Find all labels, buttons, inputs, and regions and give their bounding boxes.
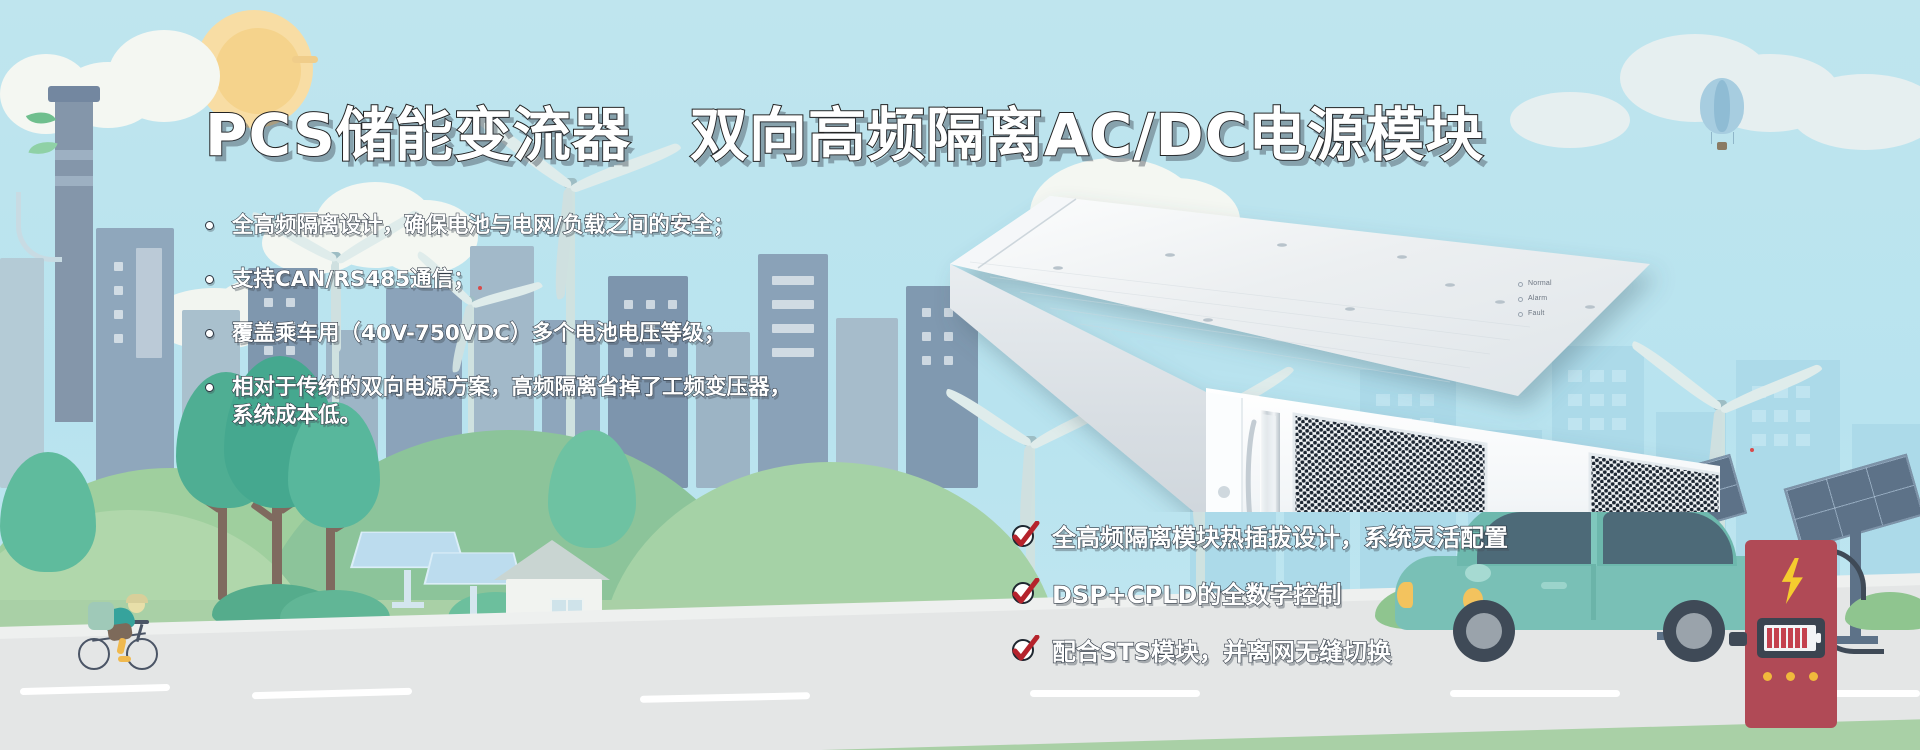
bullet-dot-icon: [205, 329, 214, 338]
list-item: DSP+CPLD的全数字控制: [1010, 575, 1508, 610]
list-item: 全高频隔离设计，确保电池与电网/负载之间的安全；: [205, 212, 925, 240]
list-item: 支持CAN/RS485通信；: [205, 266, 925, 294]
list-item: 覆盖乘车用（40V-750VDC）多个电池电压等级；: [205, 320, 925, 348]
page-title: PCS储能变流器 双向高频隔离AC/DC电源模块: [205, 88, 1484, 172]
led-label-fault: Fault: [1528, 310, 1545, 317]
bullet-text: 全高频隔离设计，确保电池与电网/负载之间的安全；: [232, 212, 734, 240]
check-mark-icon: [1010, 521, 1040, 551]
pcs-power-module-image: Normal Alarm Fault: [930, 182, 1720, 512]
list-item: 全高频隔离模块热插拔设计，系统灵活配置: [1010, 518, 1508, 553]
led-alarm-icon: [1518, 297, 1523, 302]
promo-banner: Normal Alarm Fault PCS储能变流器 双向高频隔离AC/DC电…: [0, 0, 1920, 750]
bullet-text: 支持CAN/RS485通信；: [232, 266, 475, 294]
led-fault-icon: [1518, 312, 1523, 317]
list-item: 相对于传统的双向电源方案，高频隔离省掉了工频变压器， 系统成本低。: [205, 374, 925, 430]
bullet-dot-icon: [205, 221, 214, 230]
check-mark-icon: [1010, 635, 1040, 665]
list-item: 配合STS模块，并离网无缝切换: [1010, 632, 1508, 667]
bullet-text: 相对于传统的双向电源方案，高频隔离省掉了工频变压器， 系统成本低。: [232, 374, 791, 430]
highlight-text: 配合STS模块，并离网无缝切换: [1052, 632, 1391, 667]
led-normal-icon: [1518, 282, 1523, 287]
led-label-alarm: Alarm: [1528, 295, 1547, 302]
highlight-text: 全高频隔离模块热插拔设计，系统灵活配置: [1052, 518, 1508, 553]
bullet-dot-icon: [205, 383, 214, 392]
check-mark-icon: [1010, 578, 1040, 608]
feature-bullet-list: 全高频隔离设计，确保电池与电网/负载之间的安全； 支持CAN/RS485通信； …: [205, 212, 925, 456]
highlight-list: 全高频隔离模块热插拔设计，系统灵活配置 DSP+CPLD的全数字控制 配合STS…: [1010, 518, 1508, 689]
bullet-dot-icon: [205, 275, 214, 284]
highlight-text: DSP+CPLD的全数字控制: [1052, 575, 1341, 610]
bullet-text: 覆盖乘车用（40V-750VDC）多个电池电压等级；: [232, 320, 725, 348]
led-label-normal: Normal: [1528, 280, 1552, 287]
